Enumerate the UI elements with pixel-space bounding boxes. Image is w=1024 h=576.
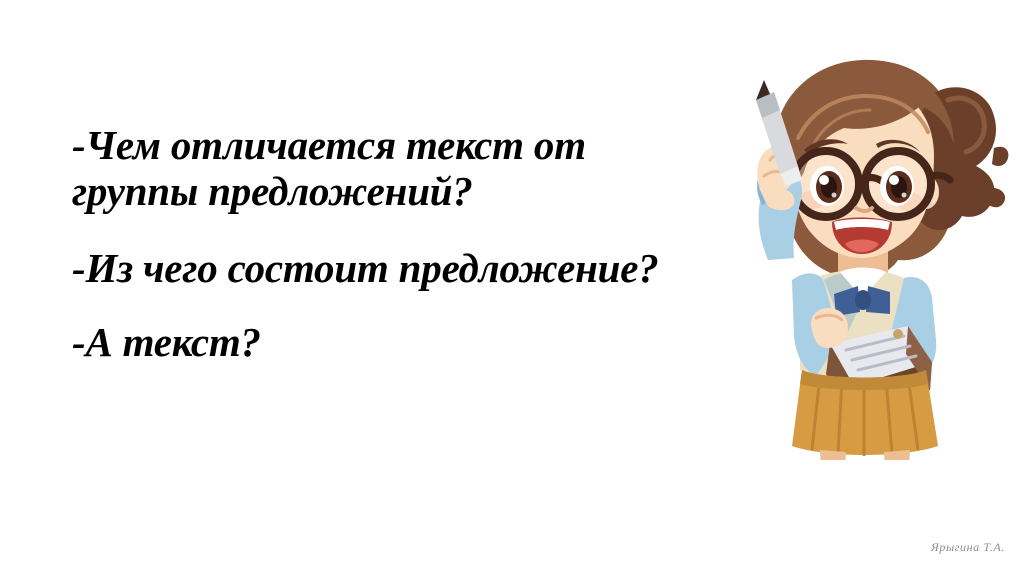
questions-block: -Чем отличается текст от группы предложе…: [72, 122, 772, 365]
question-item-1: -Чем отличается текст от группы предложе…: [72, 122, 692, 215]
eye-highlight-right: [889, 175, 899, 185]
schoolgirl-icon: [712, 40, 1012, 460]
hair-bun-strand-1: [992, 147, 1008, 166]
hair-bun-strand-2: [986, 188, 1005, 208]
author-signature: Ярыгина Т.А.: [931, 540, 1005, 555]
question-item-2: -Из чего состоит предложение?: [72, 245, 772, 291]
slide-canvas: -Чем отличается текст от группы предложе…: [0, 0, 1024, 576]
schoolgirl-illustration: [712, 40, 1012, 460]
eye-highlight-left: [819, 175, 829, 185]
eye-glint-right: [902, 193, 907, 198]
question-item-3: -А текст?: [72, 319, 772, 365]
eye-glint-left: [832, 193, 837, 198]
